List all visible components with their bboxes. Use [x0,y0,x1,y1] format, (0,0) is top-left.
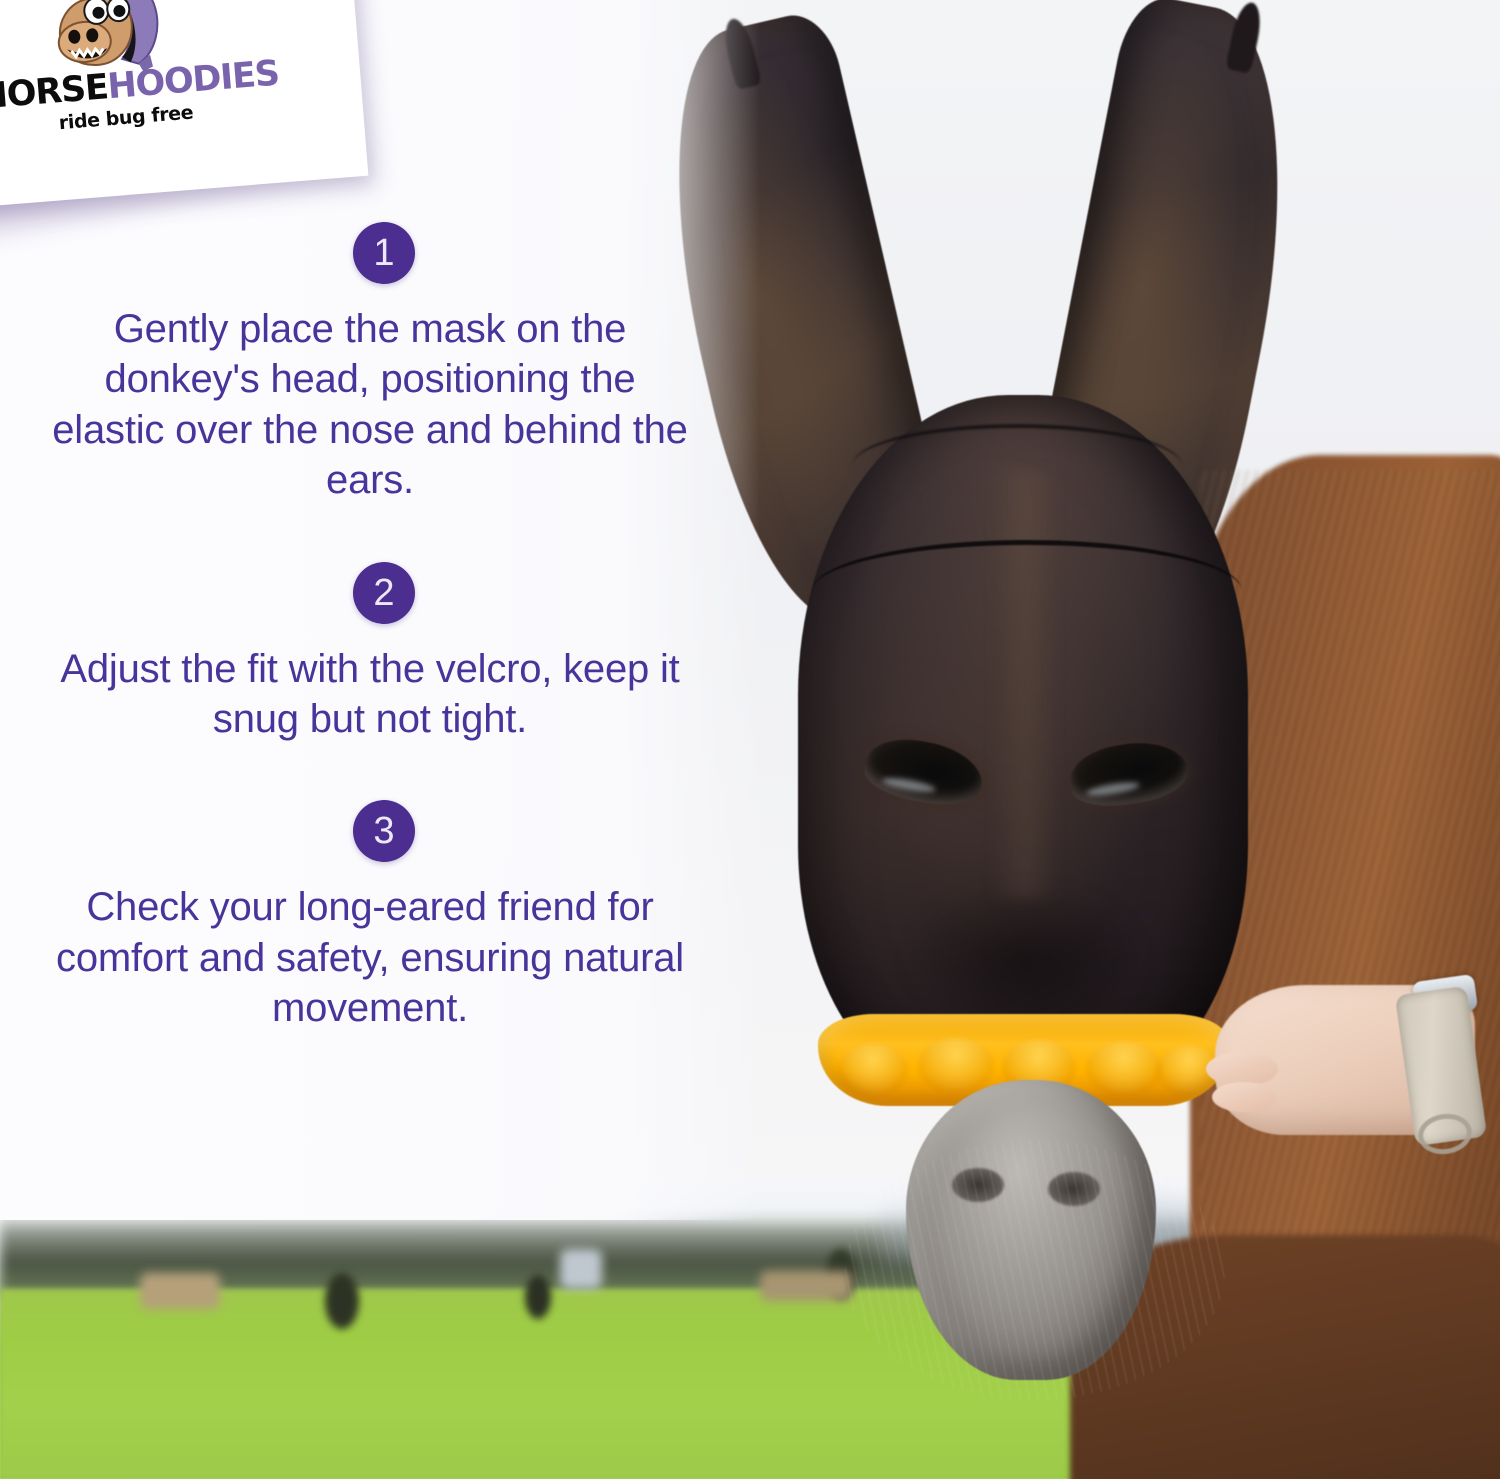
hay-bale [140,1273,220,1309]
fleece-ruffle [838,1044,908,1096]
instruction-steps: 1 Gently place the mask on the donkey's … [20,222,720,1034]
step-3-badge: 3 [353,800,415,862]
forehead-ridge [990,470,1060,900]
finger [1212,1082,1276,1112]
promo-graphic: HORSEHOODIES ride bug free 1 Gently plac… [0,0,1500,1479]
fleece-ruffle [918,1038,994,1094]
step-3-text: Check your long-eared friend for comfort… [50,882,690,1033]
hay-bale [560,1249,602,1289]
step-1: 1 Gently place the mask on the donkey's … [20,222,720,506]
step-2-text: Adjust the fit with the velcro, keep it … [50,644,690,745]
step-3: 3 Check your long-eared friend for comfo… [20,800,720,1033]
step-2-badge: 2 [353,562,415,624]
step-1-badge: 1 [353,222,415,284]
muzzle-whiskers [845,1140,1225,1400]
field-animal [325,1273,359,1329]
logo-banner: HORSEHOODIES ride bug free [0,0,368,208]
finger [1206,1052,1278,1086]
donkey [600,0,1500,1479]
field-animal [525,1275,551,1319]
step-1-text: Gently place the mask on the donkey's he… [50,304,690,506]
fleece-ruffle [1086,1042,1162,1096]
step-2: 2 Adjust the fit with the velcro, keep i… [20,562,720,745]
brand-logo[interactable]: HORSEHOODIES ride bug free [0,0,277,155]
